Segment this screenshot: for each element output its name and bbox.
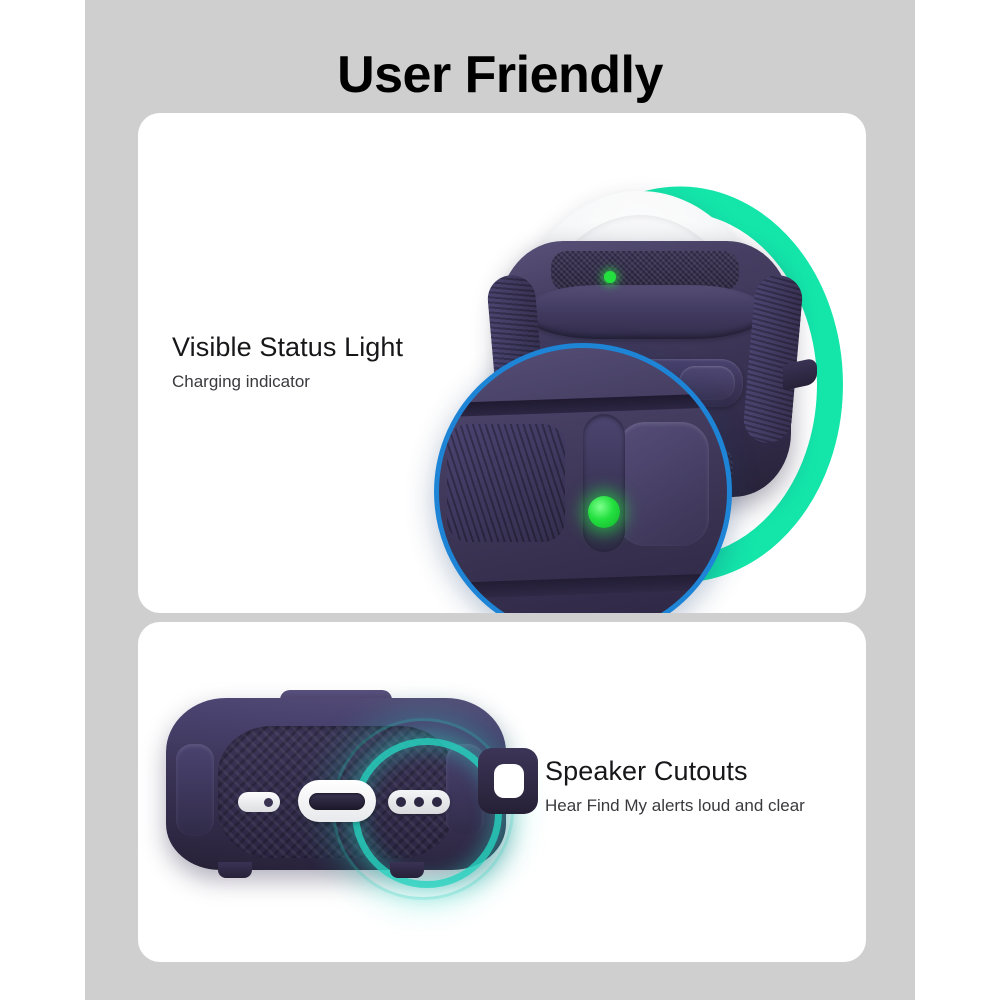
magnified-led-slot: [583, 414, 625, 552]
case-bottom-shell: [166, 698, 506, 870]
speaker-hole: [396, 797, 406, 807]
speaker-hole: [414, 797, 424, 807]
speaker-cutouts-heading: Speaker Cutouts: [545, 756, 805, 787]
status-light-heading: Visible Status Light: [172, 332, 403, 363]
led-indicator-icon: [238, 792, 280, 812]
magnified-texture-pad: [447, 424, 565, 542]
led-dot: [264, 798, 273, 807]
speaker-cutouts-text-block: Speaker Cutouts Hear Find My alerts loud…: [545, 756, 805, 816]
page-title: User Friendly: [85, 47, 915, 104]
status-led-icon: [604, 271, 616, 283]
status-light-text-block: Visible Status Light Charging indicator: [172, 332, 403, 392]
case-bumper-left: [176, 744, 214, 836]
feature-panel-status-light: ESR Visible Status Light Charging indica…: [138, 113, 866, 613]
usb-c-opening: [309, 793, 365, 810]
usb-c-port-icon: [298, 780, 376, 822]
magnified-button: [617, 422, 709, 546]
speaker-holes-icon: [388, 790, 450, 814]
case-lid-band: [523, 285, 767, 339]
carabiner-loop-icon: [478, 748, 538, 814]
status-light-subheading: Charging indicator: [172, 372, 403, 392]
product-feature-graphic: User Friendly: [0, 0, 1000, 1000]
magnified-seam-top: [434, 392, 732, 418]
speaker-hole: [432, 797, 442, 807]
carabiner-hole: [494, 764, 524, 798]
case-foot-right: [390, 862, 424, 878]
speaker-cutouts-subheading: Hear Find My alerts loud and clear: [545, 796, 805, 816]
feature-panel-speaker-cutouts: Speaker Cutouts Hear Find My alerts loud…: [138, 622, 866, 962]
magnified-status-led-icon: [588, 496, 620, 528]
earbuds-case-bottom: [166, 690, 526, 880]
magnified-seam-bottom: [434, 572, 732, 600]
case-foot-left: [218, 862, 252, 878]
